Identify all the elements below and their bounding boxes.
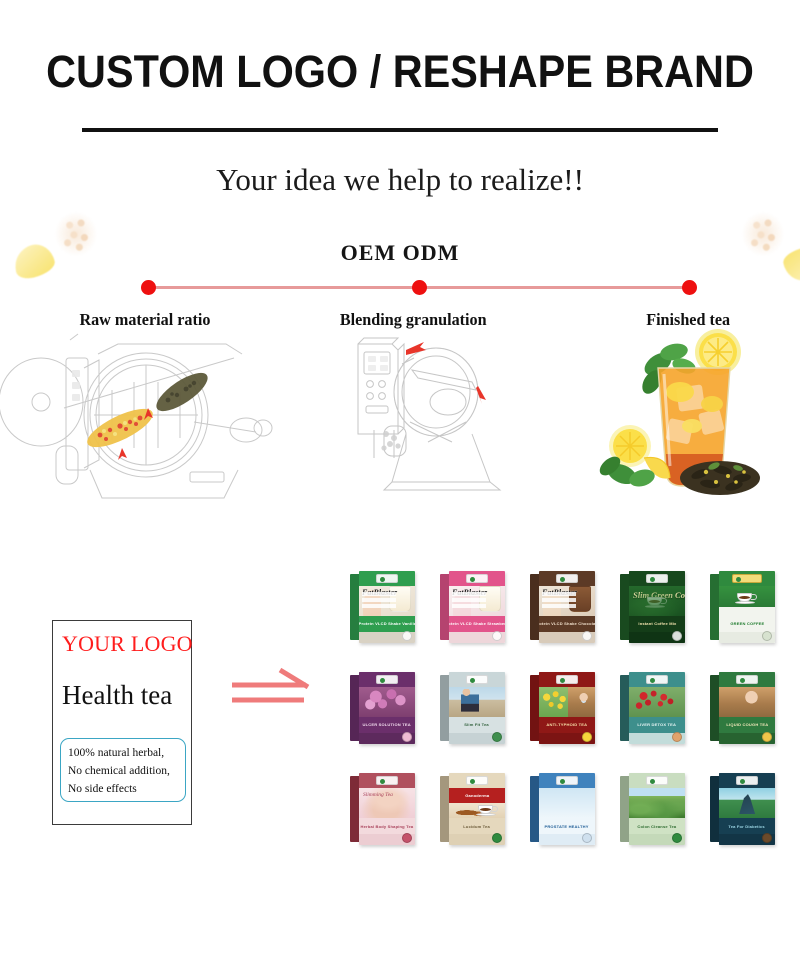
product-name: Ganoderma <box>463 793 491 798</box>
product-range-grid: FatBlaster Protein VLCD Shake Vanilla Fa… <box>344 558 790 858</box>
product-cell[interactable]: FatBlaster Protein VLCD Shake Strawberry <box>434 558 520 655</box>
granulation-machine-illustration <box>340 330 540 500</box>
product-cell[interactable]: GREEN COFFEE <box>704 558 790 655</box>
custom-logo-card[interactable]: YOUR LOGO Health tea 100% natural herbal… <box>52 620 192 825</box>
product-cell[interactable]: Ganoderma Lucidum Tea <box>434 761 520 858</box>
product-box-green-coffee[interactable]: GREEN COFFEE <box>719 571 775 643</box>
product-name: LIQUID COUGH TEA <box>724 723 770 728</box>
product-box-fatblaster-chocolate[interactable]: FatBlaster Protein VLCD Shake Chocolate <box>539 571 595 643</box>
product-box-colon-cleanse-tea[interactable]: Colon Cleanse Tea <box>629 773 685 845</box>
page-title: CUSTOM LOGO / RESHAPE BRAND <box>32 46 768 98</box>
product-box-anti-typhoid-tea[interactable]: ANTI-TYPHOID TEA <box>539 672 595 744</box>
product-cell[interactable]: PROSTATE HEALTHY <box>524 761 610 858</box>
title-divider <box>82 128 718 132</box>
product-subtitle: Protein VLCD Shake Chocolate <box>539 621 595 626</box>
product-cell[interactable]: ANTI-TYPHOID TEA <box>524 659 610 756</box>
product-box-liver-detox-tea[interactable]: LIVER DETOX TEA <box>629 672 685 744</box>
oem-odm-badge: OEM ODM <box>0 240 800 266</box>
product-box-fatblaster-strawberry[interactable]: FatBlaster Protein VLCD Shake Strawberry <box>449 571 505 643</box>
product-name-label: Health tea <box>62 679 182 711</box>
product-cell[interactable]: Slim Fit Tea <box>434 659 520 756</box>
product-cell[interactable]: Tea For Diabetics <box>704 761 790 858</box>
product-subtitle: Instant Coffee Mix <box>636 621 678 626</box>
product-cell[interactable]: Colon Cleanse Tea <box>614 761 700 858</box>
product-cell[interactable]: LIVER DETOX TEA <box>614 659 700 756</box>
product-box-liquid-cough-tea[interactable]: LIQUID COUGH TEA <box>719 672 775 744</box>
product-name: Slimming Tea <box>363 792 393 798</box>
product-name: Slim Fit Tea <box>463 723 491 728</box>
product-cell[interactable]: LIQUID COUGH TEA <box>704 659 790 756</box>
product-cell[interactable]: ULCER SOLUTION TEA <box>344 659 430 756</box>
product-name: Tea For Diabetics <box>727 824 767 829</box>
product-box-slim-green-coffee[interactable]: Slim Green Coffee Instant Coffee Mix <box>629 571 685 643</box>
product-claims-box: 100% natural herbal, No chemical additio… <box>60 738 186 802</box>
process-step-label-1: Raw material ratio <box>79 310 210 330</box>
your-logo-placeholder: YOUR LOGO <box>62 631 182 657</box>
product-box-ulcer-solution-tea[interactable]: ULCER SOLUTION TEA <box>359 672 415 744</box>
product-box-fatblaster-vanilla[interactable]: FatBlaster Protein VLCD Shake Vanilla <box>359 571 415 643</box>
product-name: ANTI-TYPHOID TEA <box>545 723 590 728</box>
product-name: Colon Cleanse Tea <box>636 824 679 829</box>
product-subtitle: Herbal Body Shaping Tea <box>359 824 415 829</box>
product-subtitle: Lucidum Tea <box>462 824 493 829</box>
page-subtitle: Your idea we help to realize!! <box>0 160 800 200</box>
product-subtitle: Protein VLCD Shake Strawberry <box>449 621 505 626</box>
product-name: PROSTATE HEALTHY <box>543 824 591 829</box>
product-box-prostate-healthy[interactable]: PROSTATE HEALTHY <box>539 773 595 845</box>
product-box-ganoderma[interactable]: Ganoderma Lucidum Tea <box>449 773 505 845</box>
timeline-dot-step-2 <box>412 280 427 295</box>
product-box-slim-fit-tea[interactable]: Slim Fit Tea <box>449 672 505 744</box>
iced-tea-glass-illustration <box>596 326 796 501</box>
product-name: LIVER DETOX TEA <box>636 723 679 728</box>
claim-line-1: 100% natural herbal, <box>68 744 179 762</box>
product-subtitle: Protein VLCD Shake Vanilla <box>359 621 415 626</box>
product-box-tea-for-diabetics[interactable]: Tea For Diabetics <box>719 773 775 845</box>
claim-line-3: No side effects <box>68 780 179 798</box>
product-cell[interactable]: FatBlaster Protein VLCD Shake Vanilla <box>344 558 430 655</box>
timeline-dot-step-3 <box>682 280 697 295</box>
product-cell[interactable]: Slimming Tea Herbal Body Shaping Tea <box>344 761 430 858</box>
product-cell[interactable]: FatBlaster Protein VLCD Shake Chocolate <box>524 558 610 655</box>
claim-line-2: No chemical addition, <box>68 762 179 780</box>
product-cell[interactable]: Slim Green Coffee Instant Coffee Mix <box>614 558 700 655</box>
product-name: ULCER SOLUTION TEA <box>361 723 413 728</box>
product-name: GREEN COFFEE <box>728 621 766 626</box>
mixing-drum-machine-illustration <box>0 330 284 500</box>
timeline-dot-step-1 <box>141 280 156 295</box>
right-arrow-icon <box>232 666 328 708</box>
product-box-slimming-tea[interactable]: Slimming Tea Herbal Body Shaping Tea <box>359 773 415 845</box>
process-step-label-2: Blending granulation <box>340 310 487 330</box>
